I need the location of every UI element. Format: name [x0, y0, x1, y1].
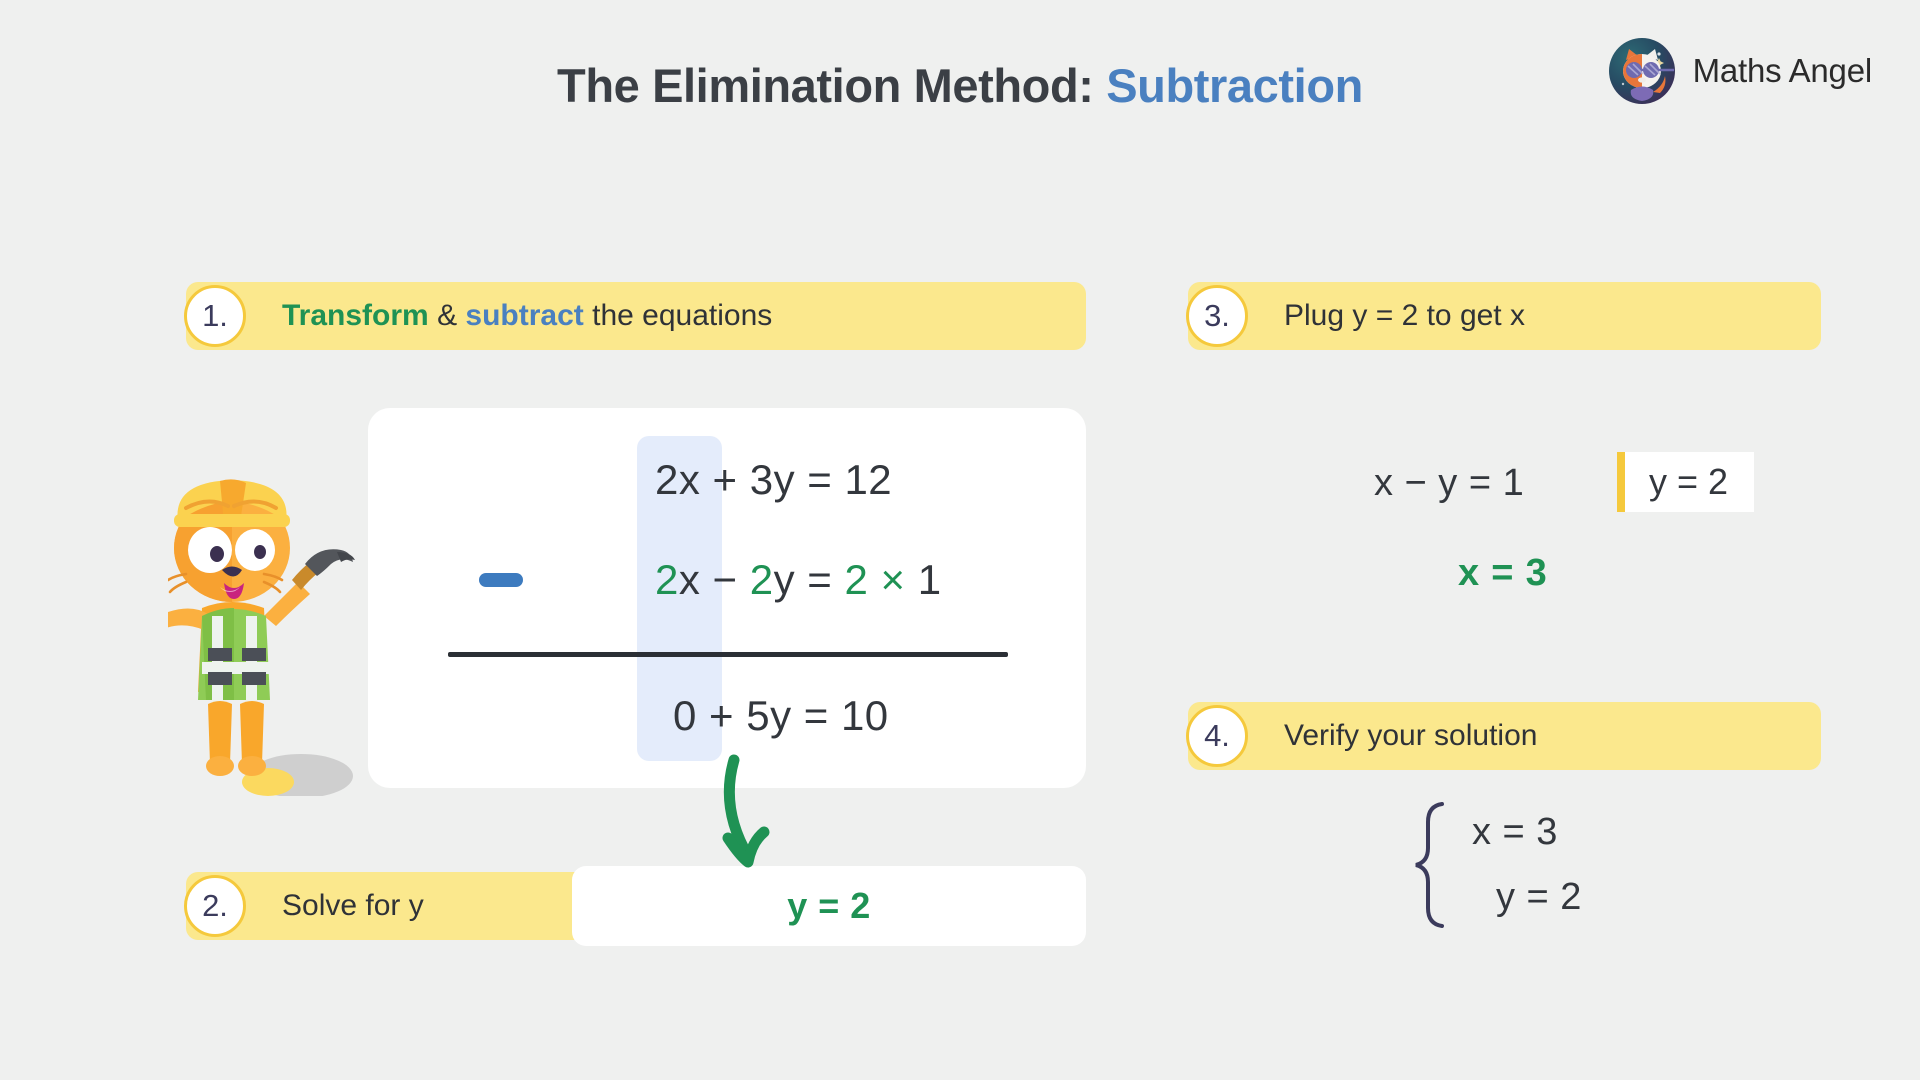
brand-name: Maths Angel — [1693, 52, 1872, 90]
solution-line-y: y = 2 — [1496, 876, 1582, 919]
step1-word-subtract: subtract — [465, 299, 583, 332]
page-title-main: The Elimination Method: — [557, 59, 1094, 112]
step-number-badge-3: 3. — [1186, 285, 1248, 347]
construction-cat-mascot-icon — [168, 466, 378, 796]
step1-word-transform: Transform — [282, 299, 429, 332]
step-number-badge-2: 2. — [184, 875, 246, 937]
step-label-1: Transform & subtract the equations — [282, 299, 772, 333]
curved-down-arrow-icon — [718, 752, 808, 892]
equation-row-2: 2x − 2y = 2 × 1 — [655, 556, 942, 604]
minus-sign-icon — [479, 573, 523, 587]
step3-substitution-chip: y = 2 — [1617, 452, 1754, 512]
equation-divider-line — [448, 652, 1008, 657]
cat-avatar-logo-icon — [1609, 38, 1675, 104]
step-label-3: Plug y = 2 to get x — [1284, 299, 1525, 333]
step-banner-1: 1. Transform & subtract the equations — [186, 282, 1086, 350]
eq2-coef-1: 2 — [655, 556, 679, 603]
eq2-rhs-plain: 1 — [918, 556, 942, 603]
step-number-badge-4: 4. — [1186, 705, 1248, 767]
step3-substitution-value: y = 2 — [1649, 461, 1728, 503]
step-banner-3: 3. Plug y = 2 to get x — [1188, 282, 1821, 350]
equation-result-row: 0 + 5y = 10 — [673, 692, 889, 740]
step2-answer-panel: y = 2 — [572, 866, 1086, 946]
eq2-var-x: x — [679, 556, 701, 603]
step-banner-4: 4. Verify your solution — [1188, 702, 1821, 770]
left-curly-brace-icon — [1412, 800, 1454, 930]
eq2-minus: − — [700, 556, 749, 603]
eq2-coef-2: 2 — [750, 556, 774, 603]
step3-equation: x − y = 1 — [1374, 462, 1524, 505]
eq2-rhs-green: 2 × — [844, 556, 905, 603]
page-title-accent: Subtraction — [1106, 59, 1363, 112]
solution-line-x: x = 3 — [1472, 811, 1582, 854]
step-label-2: Solve for y — [282, 889, 424, 923]
step1-word-tail: the equations — [592, 299, 772, 332]
step-label-4: Verify your solution — [1284, 719, 1537, 753]
step1-word-and: & — [437, 299, 457, 332]
eq2-var-y: y — [774, 556, 796, 603]
brand-logo: Maths Angel — [1609, 38, 1872, 104]
solution-set: x = 3 y = 2 — [1412, 800, 1582, 930]
step-number-badge-1: 1. — [184, 285, 246, 347]
step-banner-2: 2. Solve for y — [186, 872, 590, 940]
equation-row-1: 2x + 3y = 12 — [655, 456, 892, 504]
step3-answer-value: x = 3 — [1458, 552, 1548, 595]
eq2-equals: = — [795, 556, 844, 603]
